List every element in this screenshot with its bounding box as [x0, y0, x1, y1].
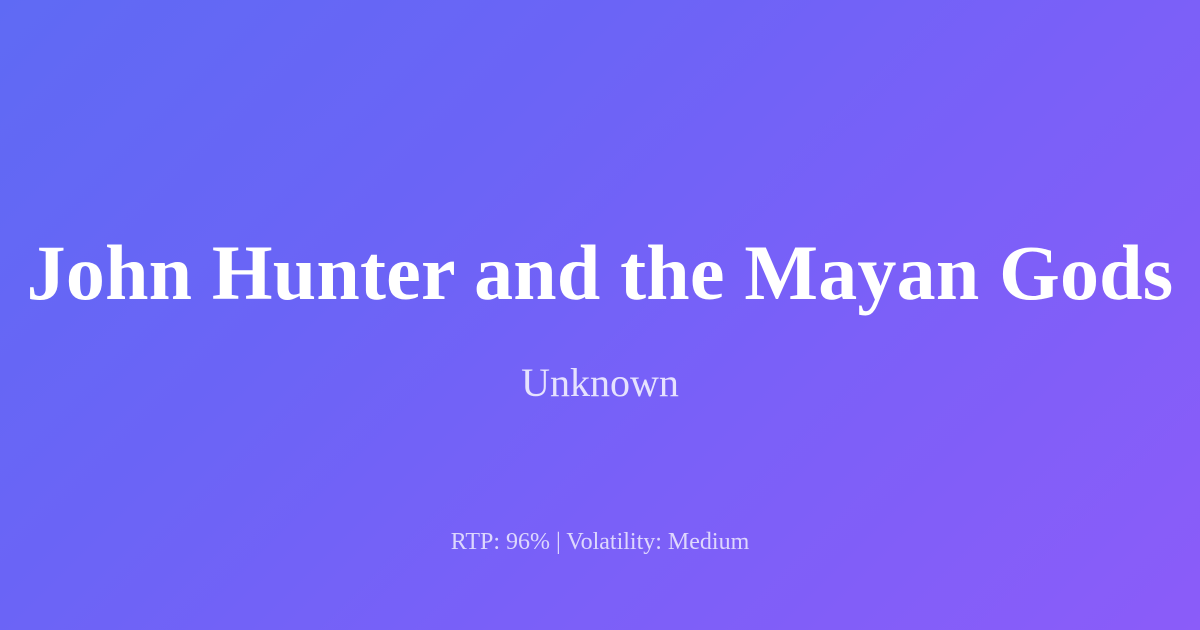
stats-container: RTP: 96% | Volatility: Medium	[0, 527, 1200, 558]
provider-container: Unknown	[0, 360, 1200, 406]
title-container: John Hunter and the Mayan Gods	[0, 218, 1200, 328]
game-stats-line: RTP: 96% | Volatility: Medium	[451, 527, 750, 558]
game-provider: Unknown	[521, 360, 679, 406]
game-title: John Hunter and the Mayan Gods	[27, 231, 1174, 315]
game-promo-card: John Hunter and the Mayan Gods Unknown R…	[0, 0, 1200, 630]
